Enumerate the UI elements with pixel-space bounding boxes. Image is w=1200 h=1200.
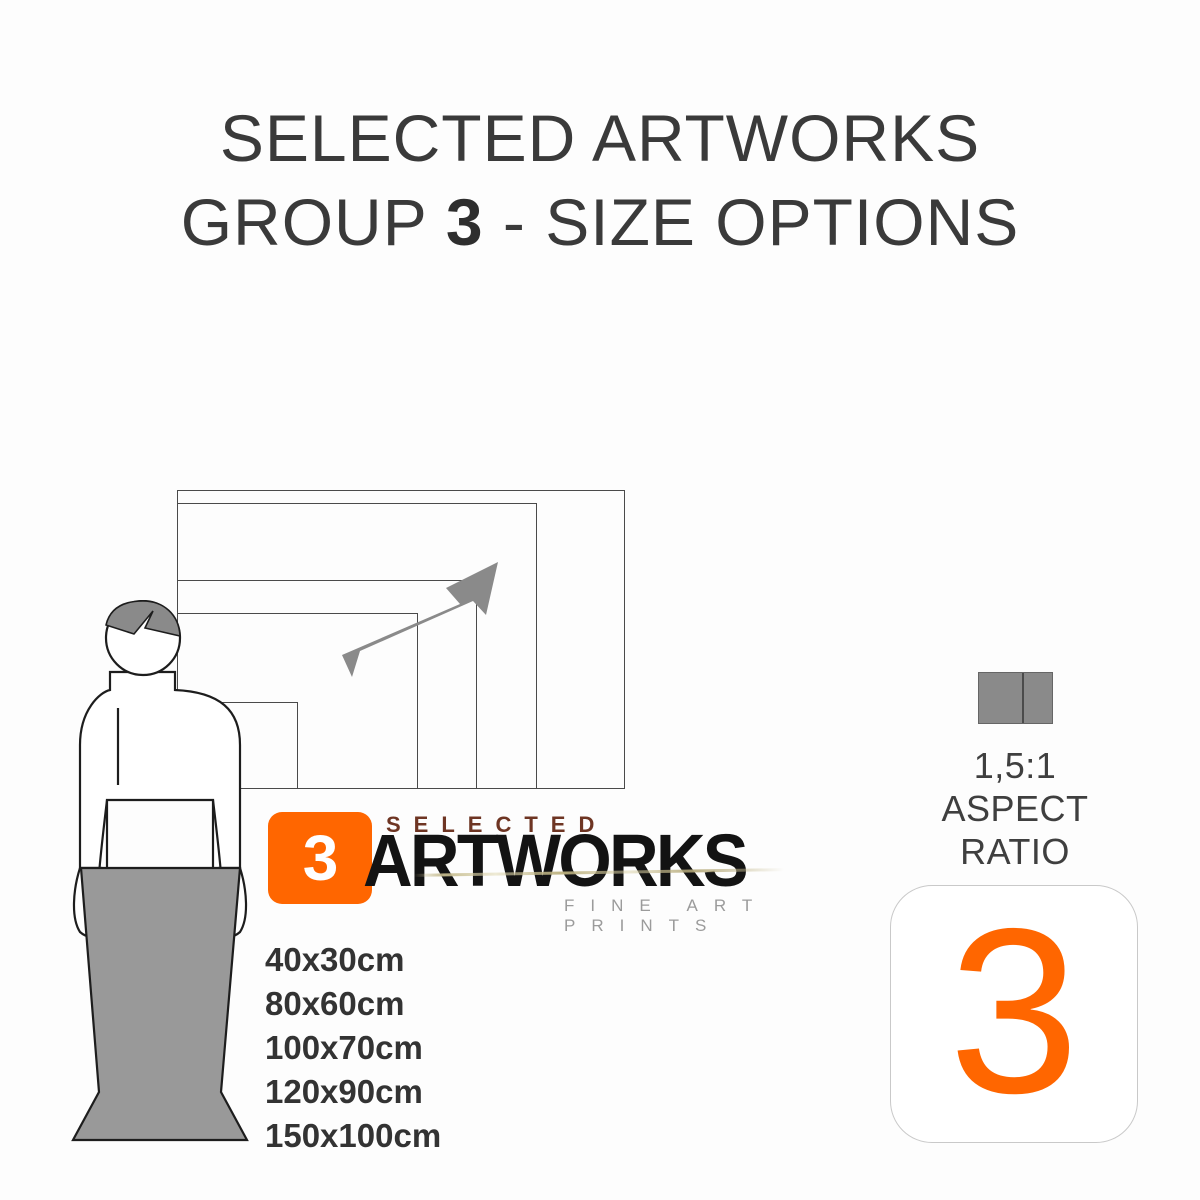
aspect-label-line2: RATIO [900,830,1130,873]
aspect-ratio-block: 1,5:1 ASPECT RATIO [900,672,1130,873]
logo-tagline: FINE ART PRINTS [564,896,828,936]
group-number-value: 3 [949,911,1080,1111]
logo-word-artworks: ARTWORKS [363,824,746,898]
aspect-ratio-value: 1,5:1 [900,744,1130,787]
aspect-ratio-divider [1022,673,1024,723]
size-option-3: 100x70cm [265,1026,441,1070]
size-option-1: 40x30cm [265,938,441,982]
human-scale-figure [35,600,285,1160]
size-option-5: 150x100cm [265,1114,441,1158]
logo-group-badge: 3 [268,812,372,904]
aspect-label-line1: ASPECT [900,787,1130,830]
growth-arrow-icon [330,555,530,685]
brand-logo: 3 SELECTED ARTWORKS FINE ART PRINTS [268,812,828,916]
group-number-card: 3 [890,885,1138,1143]
aspect-ratio-text: 1,5:1 ASPECT RATIO [900,744,1130,873]
size-option-2: 80x60cm [265,982,441,1026]
size-option-4: 120x90cm [265,1070,441,1114]
size-options-list: 40x30cm 80x60cm 100x70cm 120x90cm 150x10… [265,938,441,1158]
logo-badge-number: 3 [303,826,338,890]
aspect-ratio-icon [978,672,1053,724]
logo-wordmark: SELECTED ARTWORKS FINE ART PRINTS [378,812,828,916]
